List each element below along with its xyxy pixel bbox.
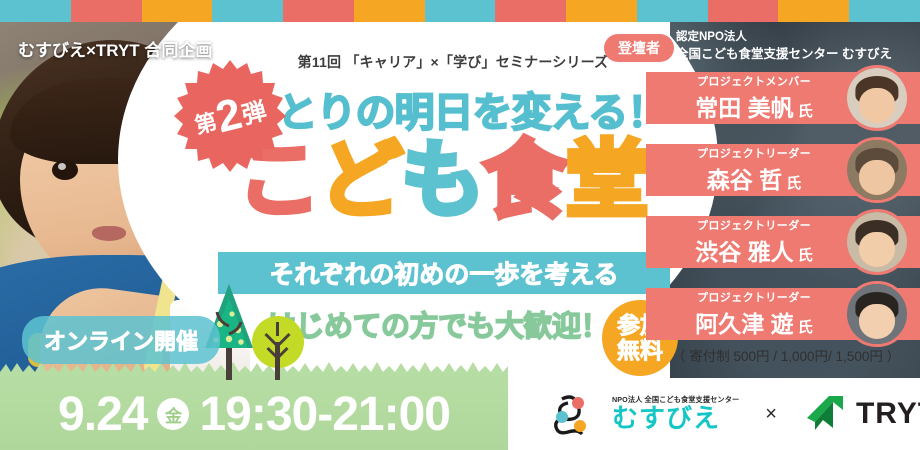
stripe-segment: [849, 0, 920, 22]
organization-line1: 認定NPO法人: [676, 30, 892, 46]
tryt-wordmark: TRYT: [856, 397, 920, 431]
musubie-mark-icon: [548, 393, 604, 435]
avatar: [844, 65, 910, 131]
stripe-segment: [637, 0, 708, 22]
child-mouth: [92, 226, 126, 241]
event-datetime: 9.24 金 19:30-21:00: [0, 378, 508, 450]
donation-note: （ 寄付制 500円 / 1,000円/ 1,500円 ）: [672, 345, 900, 365]
online-badge: オンライン開催: [22, 316, 220, 364]
stripe-segment: [354, 0, 425, 22]
avatar: [844, 209, 910, 275]
child-eye-left: [52, 160, 78, 180]
title-char: 堂: [565, 133, 647, 227]
tryt-mark-icon: [803, 394, 847, 434]
avatar: [844, 281, 910, 347]
footer-logos: NPO法人 全国こども食堂支援センター むすびえ × TRYT: [520, 378, 920, 450]
musubie-logo[interactable]: NPO法人 全国こども食堂支援センター むすびえ: [548, 393, 739, 435]
volume-burst-badge: 第2弾: [172, 58, 288, 174]
stripe-segment: [283, 0, 354, 22]
event-date: 9.24: [58, 387, 147, 442]
top-color-stripe: [0, 0, 920, 22]
stripe-segment: [212, 0, 283, 22]
stripe-segment: [0, 0, 71, 22]
stripe-segment: [778, 0, 849, 22]
stripe-segment: [566, 0, 637, 22]
title-char: 食: [483, 133, 565, 227]
organization-name: 認定NPO法人 全国こども食堂支援センター むすびえ: [676, 30, 892, 63]
musubie-name: むすびえ: [612, 405, 739, 432]
title-char: も: [401, 133, 483, 227]
avatar: [844, 137, 910, 203]
stripe-segment: [425, 0, 496, 22]
stripe-segment: [495, 0, 566, 22]
day-of-week-badge: 金: [157, 398, 189, 430]
subtitle-text: それぞれの初めの一歩を考える: [269, 255, 618, 291]
series-label: 第11回 「キャリア」×「学び」セミナーシリーズ: [288, 52, 618, 72]
speakers-badge: 登壇者: [604, 34, 674, 62]
x-separator: ×: [765, 403, 777, 426]
free-badge-line2: 無料: [617, 338, 663, 363]
stripe-segment: [142, 0, 213, 22]
headline: ひとりの明日を変える！: [238, 80, 668, 138]
organization-line2: 全国こども食堂支援センター むすびえ: [676, 46, 892, 63]
stripe-segment: [708, 0, 779, 22]
seminar-banner: むすびえ×TRYT 合同企画 第2弾 第11回 「キャリア」×「学び」セミナーシ…: [0, 0, 920, 450]
tryt-logo[interactable]: TRYT: [803, 394, 920, 434]
event-time: 19:30-21:00: [199, 387, 450, 442]
stripe-segment: [71, 0, 142, 22]
title-char: ど: [319, 133, 401, 227]
